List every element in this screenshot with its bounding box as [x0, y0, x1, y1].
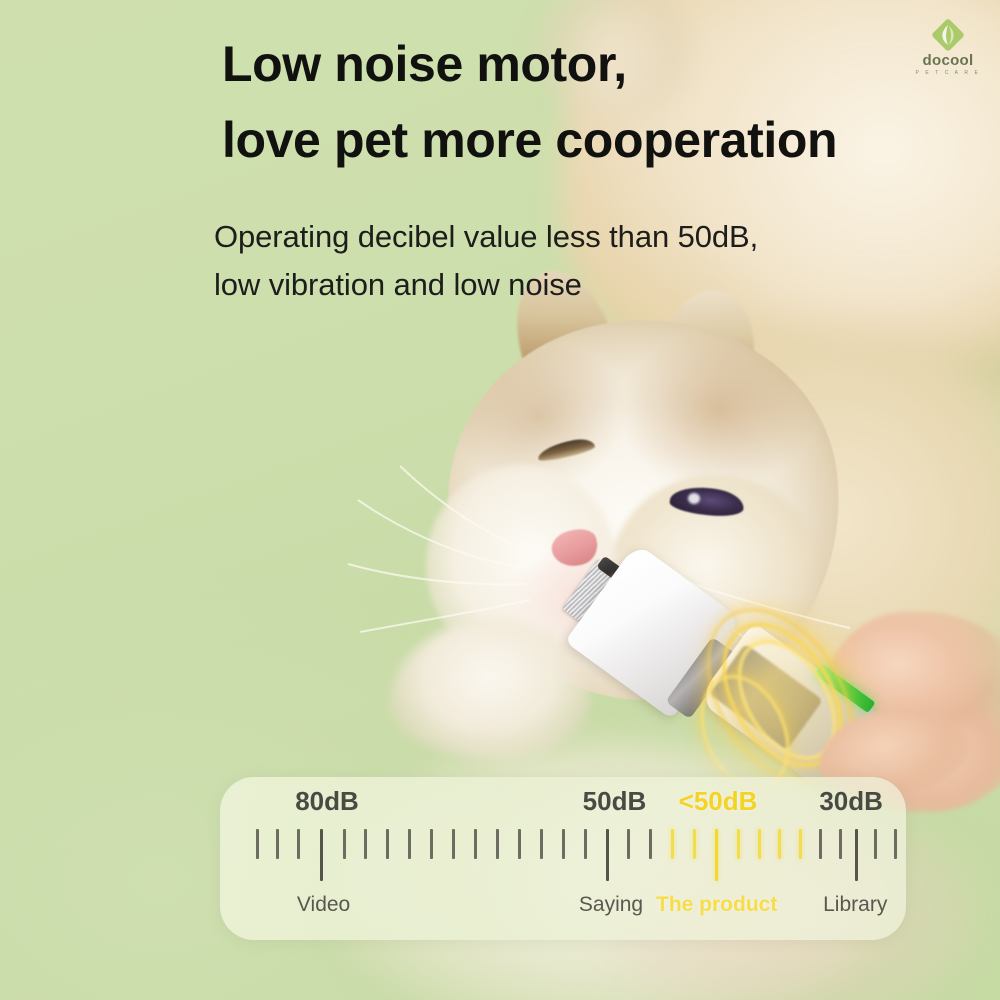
decibel-tick [256, 829, 259, 859]
decibel-source-names: VideoSayingThe productLibrary [220, 893, 906, 929]
decibel-label: 80dB [295, 786, 359, 817]
decibel-tick [799, 829, 802, 859]
decibel-source-name: Saying [579, 893, 643, 917]
page-subtitle: Operating decibel value less than 50dB, … [214, 213, 854, 310]
decibel-source-name: Video [297, 893, 350, 917]
product-marketing-poster: Low noise motor, love pet more cooperati… [0, 0, 1000, 1000]
decibel-scale-panel: 80dB50dB<50dB30dB VideoSayingThe product… [220, 777, 906, 940]
decibel-tick [562, 829, 565, 859]
decibel-value-labels: 80dB50dB<50dB30dB [220, 777, 906, 823]
decibel-tick-marks [220, 829, 906, 889]
decibel-tick [540, 829, 543, 859]
cat-eye-highlight [688, 493, 700, 504]
decibel-tick [496, 829, 499, 859]
brand-logo: docool P E T C A R E [912, 18, 984, 76]
decibel-tick [839, 829, 842, 859]
decibel-tick [408, 829, 411, 859]
decibel-tick [874, 829, 877, 859]
decibel-tick [364, 829, 367, 859]
decibel-tick [606, 829, 609, 881]
decibel-tick [649, 829, 652, 859]
decibel-tick [855, 829, 858, 881]
decibel-source-name: The product [656, 893, 777, 917]
decibel-tick [819, 829, 822, 859]
page-title: Low noise motor, love pet more cooperati… [222, 26, 922, 178]
decibel-tick [518, 829, 521, 859]
decibel-tick [452, 829, 455, 859]
decibel-tick [474, 829, 477, 859]
decibel-tick [386, 829, 389, 859]
brand-name: docool [912, 53, 984, 68]
decibel-tick [584, 829, 587, 859]
decibel-tick [297, 829, 300, 859]
brand-tagline: P E T C A R E [912, 70, 984, 76]
decibel-tick [737, 829, 740, 859]
decibel-tick [778, 829, 781, 859]
decibel-label: 50dB [583, 786, 647, 817]
decibel-tick [343, 829, 346, 859]
decibel-tick [715, 829, 718, 881]
decibel-tick [758, 829, 761, 859]
decibel-tick [320, 829, 323, 881]
leaf-diamond-icon [931, 18, 965, 52]
decibel-tick [276, 829, 279, 859]
decibel-tick [627, 829, 630, 859]
decibel-tick [671, 829, 674, 859]
decibel-label: 30dB [819, 786, 883, 817]
decibel-tick [693, 829, 696, 859]
decibel-tick [430, 829, 433, 859]
decibel-label: <50dB [679, 786, 758, 817]
decibel-tick [894, 829, 897, 859]
decibel-source-name: Library [823, 893, 887, 917]
